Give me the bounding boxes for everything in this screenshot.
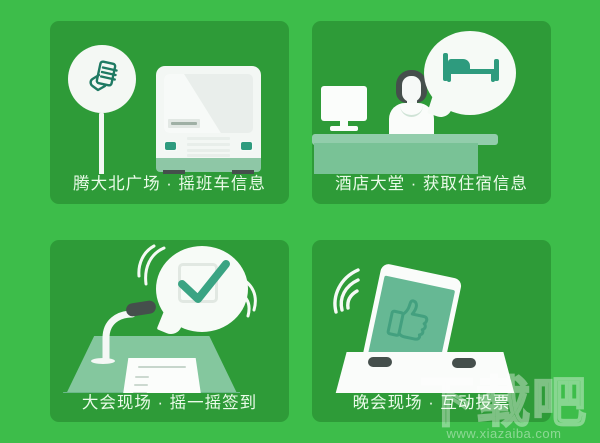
panel-grid: 腾大北广场 · 摇班车信息	[0, 0, 600, 443]
conference-podium-scene	[50, 240, 289, 393]
panel-vote[interactable]: 晚会现场 · 互动投票	[312, 240, 551, 423]
panel-checkin[interactable]: 大会现场 · 摇一摇签到	[50, 240, 289, 423]
bus-tire-left	[163, 170, 185, 174]
bus-stop-scene	[50, 21, 289, 174]
thumbs-up-icon	[383, 293, 435, 345]
bus-grille	[187, 137, 230, 156]
monitor-icon	[321, 86, 367, 121]
ballot-box-scene	[312, 240, 551, 393]
microphone-base	[91, 358, 115, 364]
hotel-lobby-scene	[312, 21, 551, 174]
document-text-line	[134, 384, 148, 386]
bus-icon	[156, 66, 261, 174]
bus-license-plate	[168, 119, 200, 128]
ballot-box-slot-right	[452, 358, 476, 368]
bed-icon	[443, 53, 499, 87]
panel-shuttle-caption: 腾大北广场 · 摇班车信息	[50, 174, 289, 203]
bus-headlight-right	[237, 138, 256, 154]
shake-phone-icon	[83, 59, 123, 99]
document-icon	[122, 358, 202, 393]
ballot-box-icon	[334, 352, 516, 393]
screenshot-stage: 腾大北广场 · 摇班车信息	[0, 0, 600, 443]
panel-shuttle[interactable]: 腾大北广场 · 摇班车信息	[50, 21, 289, 204]
monitor-base	[330, 126, 358, 131]
document-text-line	[135, 376, 149, 378]
signal-waves-icon	[330, 264, 376, 316]
bus-tire-right	[232, 170, 254, 174]
document-title-line	[138, 366, 186, 368]
ballot-box-slot-left	[368, 357, 392, 367]
document-text-line	[133, 392, 147, 393]
panel-hotel-caption: 酒店大堂 · 获取住宿信息	[312, 174, 551, 203]
panel-hotel[interactable]: 酒店大堂 · 获取住宿信息	[312, 21, 551, 204]
checkmark-icon	[176, 258, 232, 308]
reception-desk-front	[314, 143, 478, 174]
panel-vote-caption: 晚会现场 · 互动投票	[312, 393, 551, 422]
sign-pole	[99, 113, 104, 174]
panel-checkin-caption: 大会现场 · 摇一摇签到	[50, 393, 289, 422]
bus-headlight-left	[161, 138, 180, 154]
microphone-head	[125, 299, 157, 317]
